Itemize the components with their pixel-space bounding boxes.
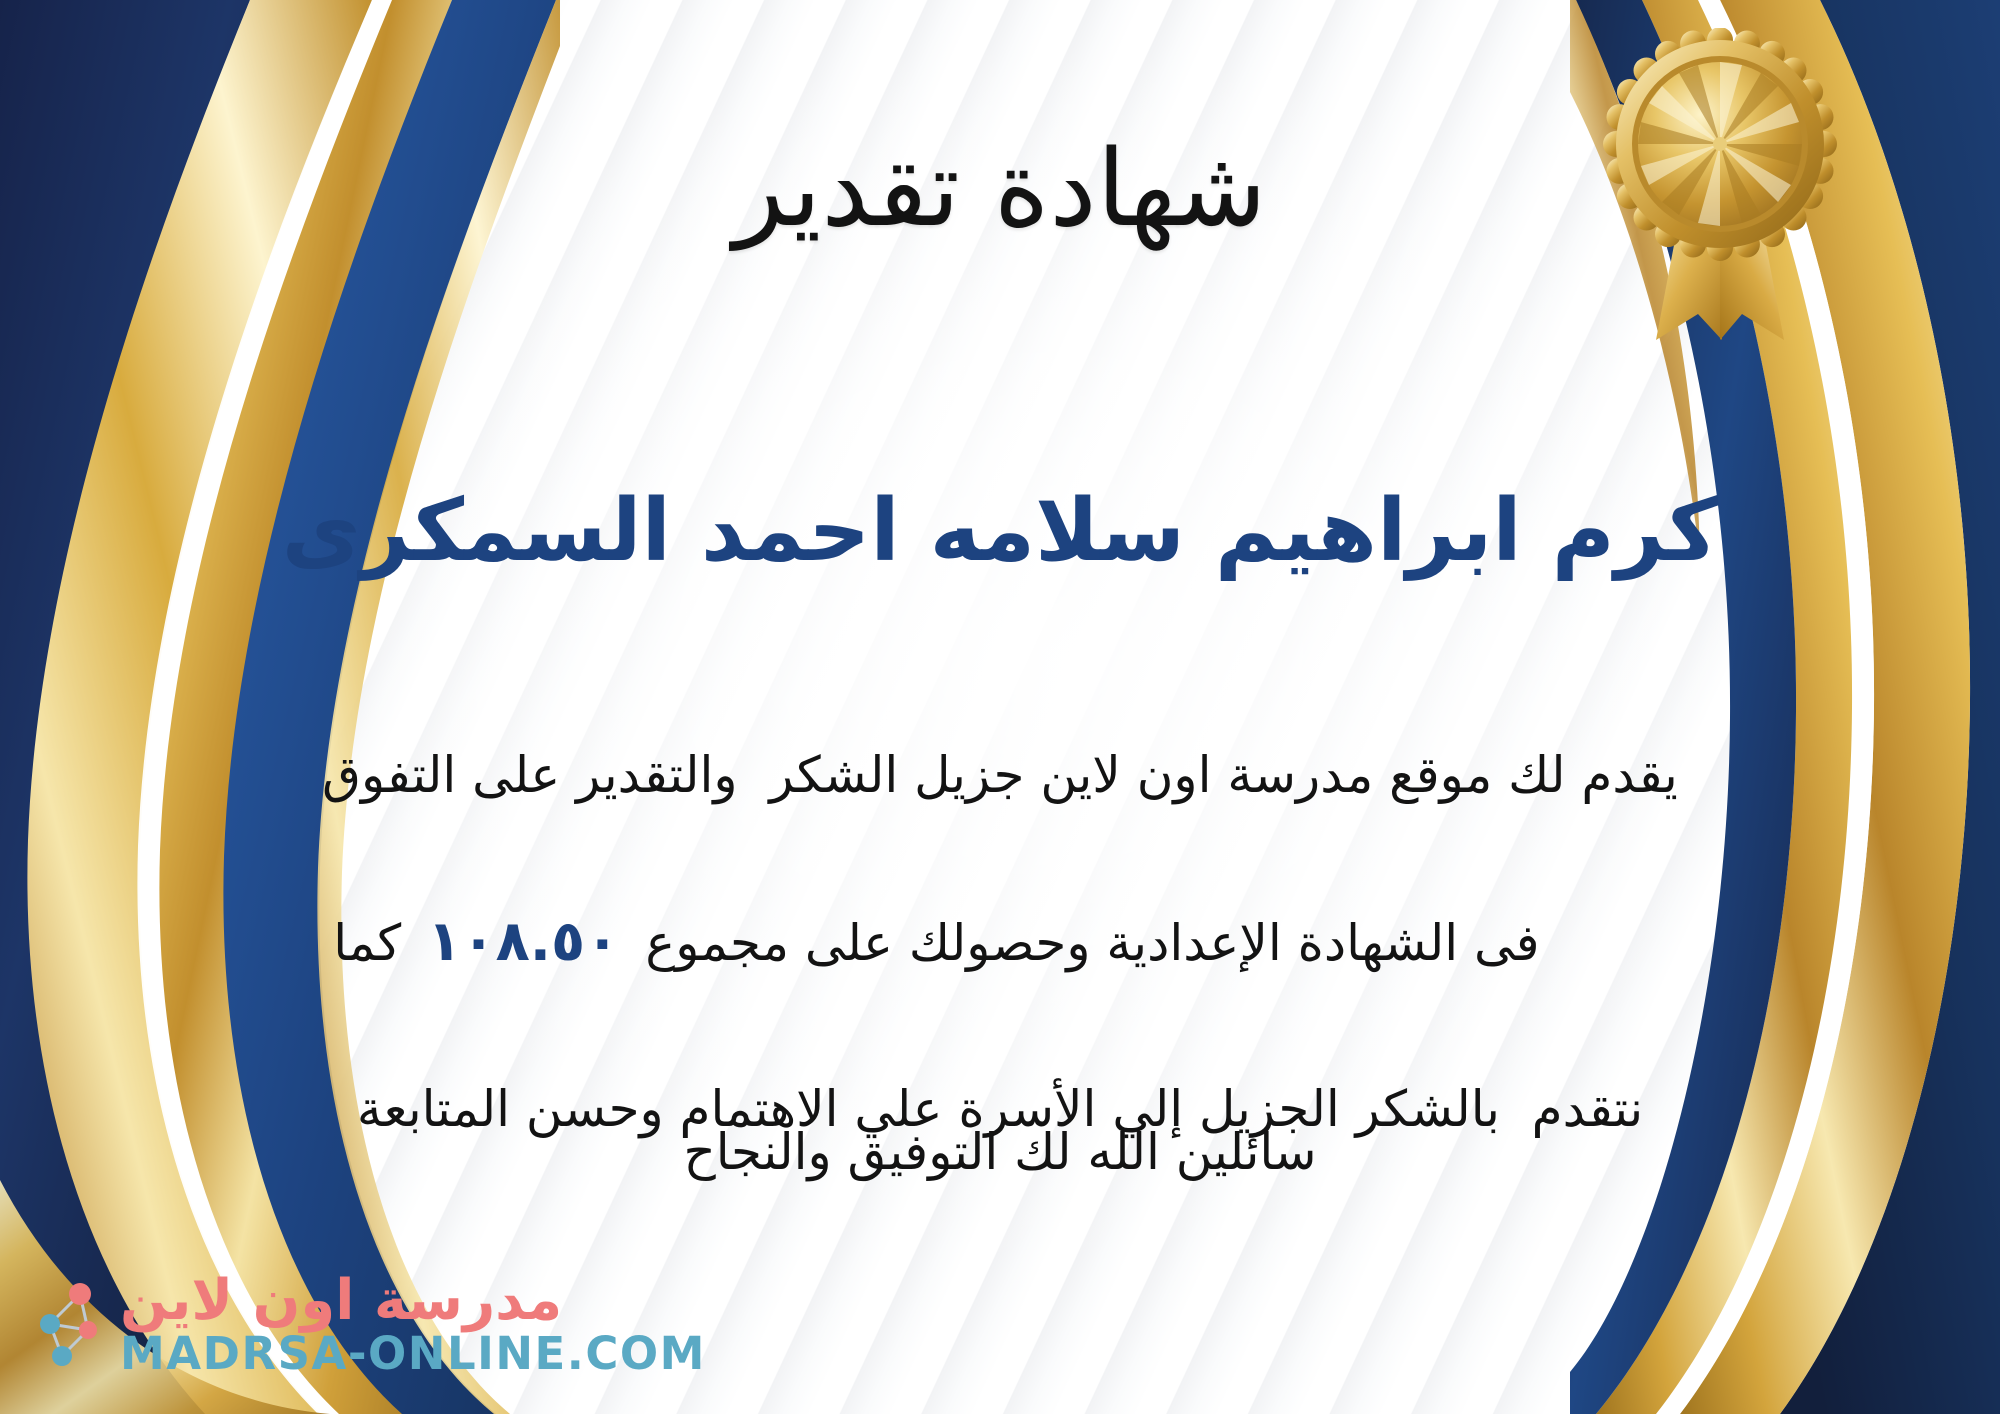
body-line-2: فى الشهادة الإعدادية وحصولك على مجموع١٠٨…: [60, 816, 1940, 1069]
certificate-title: شهادة تقدير: [0, 128, 2000, 250]
body-line-1: يقدم لك موقع مدرسة اون لاين جزيل الشكر و…: [60, 735, 1940, 816]
certificate-content: شهادة تقدير كرم ابراهيم سلامه احمد السمك…: [0, 0, 2000, 1414]
brand-arabic-name: مدرسة اون لاين: [120, 1271, 562, 1330]
student-name: كرم ابراهيم سلامه احمد السمكرى: [0, 480, 2000, 583]
closing-wish: سائلين الله لك التوفيق والنجاح: [0, 1115, 2000, 1190]
brand-logo-text: مدرسة اون لاين MADRSA-ONLINE.COM: [120, 1271, 706, 1378]
brand-logo[interactable]: مدرسة اون لاين MADRSA-ONLINE.COM: [28, 1271, 706, 1378]
network-nodes-icon: [28, 1278, 106, 1370]
total-score-value: ١٠٨.٥٠: [401, 909, 645, 974]
brand-website: MADRSA-ONLINE.COM: [120, 1330, 706, 1378]
body-line-2-suffix: كما: [333, 914, 401, 972]
certificate-body: يقدم لك موقع مدرسة اون لاين جزيل الشكر و…: [60, 735, 1940, 1150]
certificate-page: شهادة تقدير كرم ابراهيم سلامه احمد السمك…: [0, 0, 2000, 1414]
body-line-2-prefix: فى الشهادة الإعدادية وحصولك على مجموع: [645, 914, 1539, 972]
